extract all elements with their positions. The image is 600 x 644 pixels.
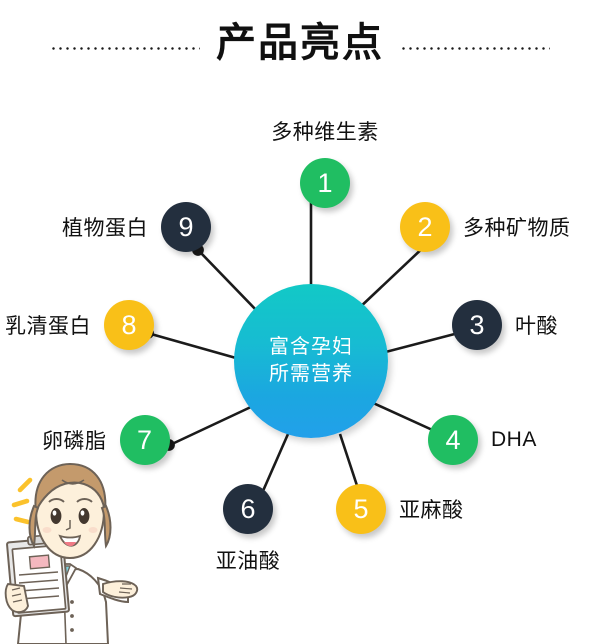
node-6-bubble[interactable]: 6	[223, 484, 273, 534]
sparkle-icon	[14, 480, 30, 522]
node-4-bubble[interactable]: 4	[428, 415, 478, 465]
node-2[interactable]: 2 多种矿物质	[400, 202, 571, 252]
node-7[interactable]: 卵磷脂 7	[42, 415, 170, 465]
node-9-label: 植物蛋白	[62, 212, 148, 242]
node-4[interactable]: 4 DHA	[428, 415, 537, 465]
node-2-bubble[interactable]: 2	[400, 202, 450, 252]
node-5[interactable]: 5 亚麻酸	[336, 484, 464, 534]
node-5-label: 亚麻酸	[399, 494, 464, 524]
node-6[interactable]: 6 亚油酸	[193, 484, 303, 575]
highlights-diagram: 富含孕妇 所需营养 多种维生素 1 2 多种矿物质 3 叶酸 4 DHA 5 亚…	[0, 72, 600, 644]
node-8[interactable]: 乳清蛋白 8	[5, 300, 154, 350]
dotted-rule-left	[50, 47, 200, 50]
node-8-bubble[interactable]: 8	[104, 300, 154, 350]
node-9-bubble[interactable]: 9	[161, 202, 211, 252]
node-5-bubble[interactable]: 5	[336, 484, 386, 534]
node-3-bubble[interactable]: 3	[452, 300, 502, 350]
dotted-rule-right	[400, 47, 550, 50]
node-8-label: 乳清蛋白	[5, 310, 91, 340]
node-4-label: DHA	[491, 428, 537, 452]
center-hub: 富含孕妇 所需营养	[234, 284, 388, 438]
page-header: 产品亮点	[0, 14, 600, 72]
node-6-label: 亚油酸	[216, 545, 281, 575]
node-1[interactable]: 多种维生素 1	[255, 116, 395, 208]
nurse-illustration	[0, 462, 152, 644]
node-7-bubble[interactable]: 7	[120, 415, 170, 465]
node-2-label: 多种矿物质	[463, 212, 571, 242]
node-7-label: 卵磷脂	[42, 425, 107, 455]
hub-line-2: 所需营养	[269, 361, 353, 388]
node-1-label: 多种维生素	[271, 116, 379, 146]
hub-line-1: 富含孕妇	[269, 334, 353, 361]
node-9[interactable]: 植物蛋白 9	[62, 202, 211, 252]
node-3[interactable]: 3 叶酸	[452, 300, 558, 350]
node-1-bubble[interactable]: 1	[300, 158, 350, 208]
node-3-label: 叶酸	[515, 310, 558, 340]
page-title: 产品亮点	[216, 23, 384, 63]
